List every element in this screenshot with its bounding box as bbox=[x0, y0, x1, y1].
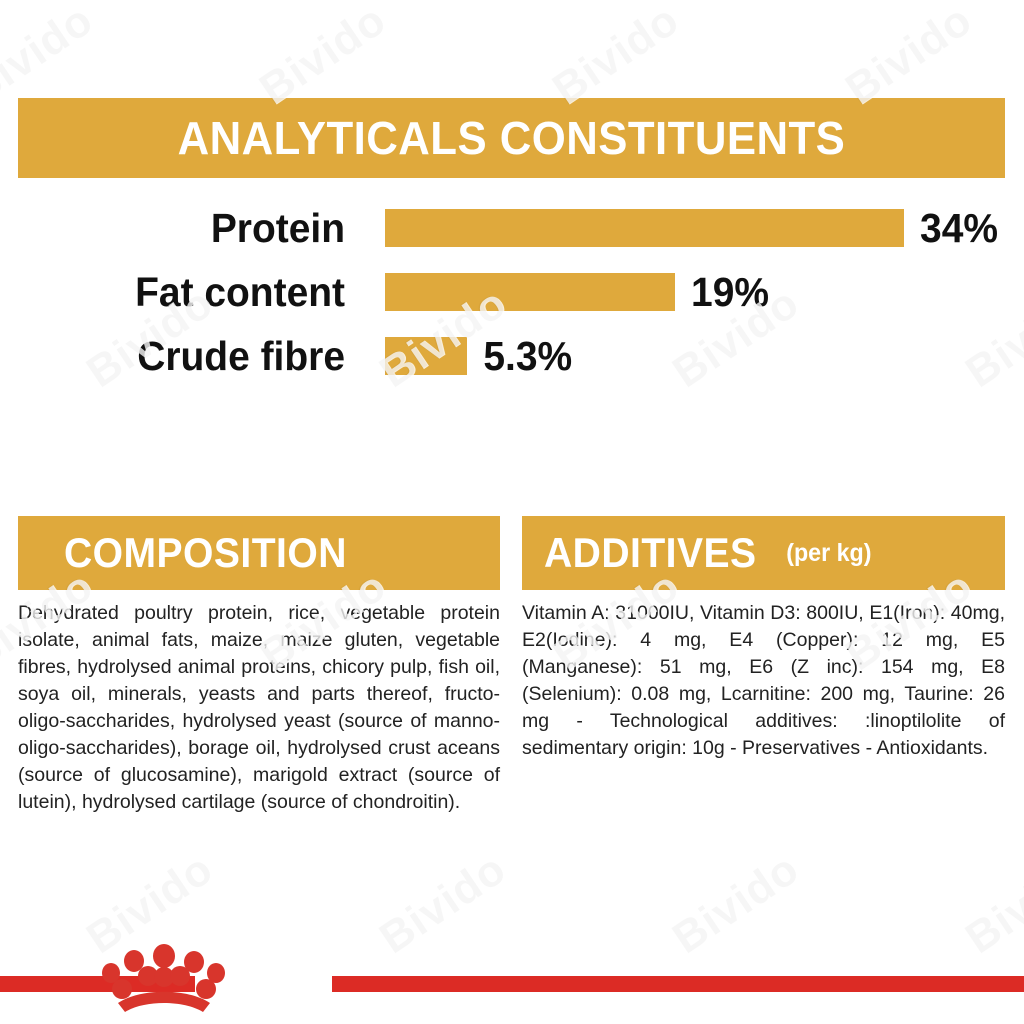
chart-bar-crude-fibre bbox=[385, 337, 467, 375]
additives-header: ADDITIVES (per kg) bbox=[522, 516, 1005, 590]
chart-value-label: 5.3% bbox=[483, 336, 572, 377]
royal-canin-crown-logo bbox=[50, 940, 280, 1024]
chart-value-label: 34% bbox=[920, 208, 998, 249]
composition-header: COMPOSITION bbox=[18, 516, 500, 590]
product-info-panel: ANALYTICALS CONSTITUENTS Protein 34% Fat… bbox=[0, 0, 1024, 1024]
chart-bar-wrap: 5.3% bbox=[385, 324, 574, 388]
composition-body-text: Dehydrated poultry protein, rice, vegeta… bbox=[18, 600, 500, 816]
analyticals-bar-chart: Protein 34% Fat content 19% Crude fibre … bbox=[0, 196, 1024, 396]
chart-row: Fat content 19% bbox=[0, 260, 1024, 324]
analyticals-constituents-header: ANALYTICALS CONSTITUENTS bbox=[18, 98, 1005, 178]
chart-bar-fat-content bbox=[385, 273, 675, 311]
chart-category-label: Crude fibre bbox=[17, 336, 345, 377]
analyticals-constituents-title: ANALYTICALS CONSTITUENTS bbox=[178, 115, 846, 161]
chart-value-label: 19% bbox=[691, 272, 769, 313]
footer bbox=[0, 940, 1024, 1024]
chart-category-label: Protein bbox=[17, 208, 345, 249]
additives-per-kg-subtitle: (per kg) bbox=[786, 539, 871, 568]
chart-bar-wrap: 34% bbox=[385, 196, 1000, 260]
composition-title: COMPOSITION bbox=[64, 532, 347, 574]
chart-bar-wrap: 19% bbox=[385, 260, 771, 324]
footer-rule-right bbox=[332, 976, 1024, 992]
chart-row: Protein 34% bbox=[0, 196, 1024, 260]
chart-bar-protein bbox=[385, 209, 904, 247]
chart-category-label: Fat content bbox=[17, 272, 345, 313]
chart-row: Crude fibre 5.3% bbox=[0, 324, 1024, 388]
additives-title: ADDITIVES bbox=[544, 532, 757, 574]
additives-body-text: Vitamin A: 31000IU, Vitamin D3: 800IU, E… bbox=[522, 600, 1005, 762]
